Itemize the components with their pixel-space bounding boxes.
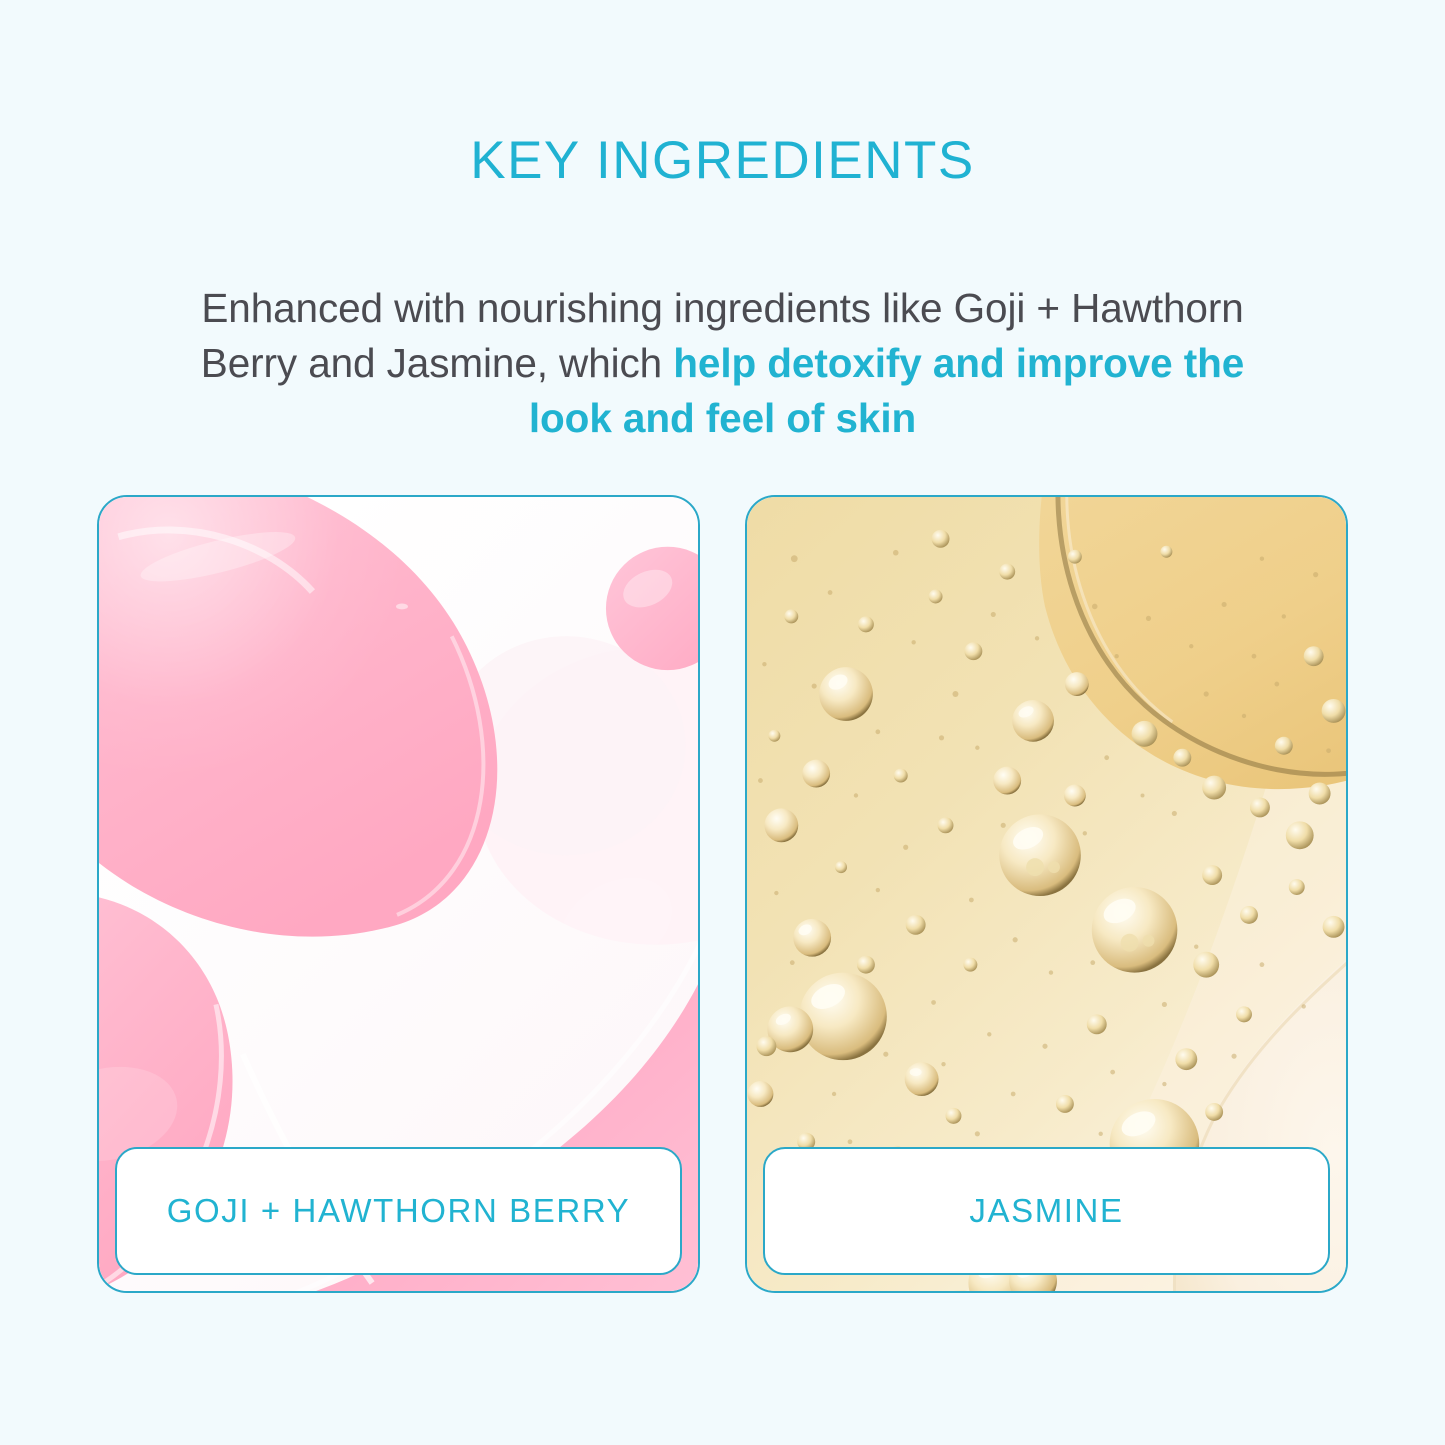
ingredient-card-grid: GOJI + HAWTHORN BERRY [97,495,1348,1293]
ingredient-card-goji-hawthorn-berry[interactable]: GOJI + HAWTHORN BERRY [97,495,700,1293]
ingredient-card-jasmine[interactable]: JASMINE [745,495,1348,1293]
card-label-goji-hawthorn-berry: GOJI + HAWTHORN BERRY [115,1147,682,1275]
card-label-text: GOJI + HAWTHORN BERRY [167,1192,631,1230]
subtitle: Enhanced with nourishing ingredients lik… [163,281,1283,447]
key-ingredients-panel: KEY INGREDIENTS Enhanced with nourishing… [0,0,1445,1445]
page-title: KEY INGREDIENTS [0,132,1445,189]
card-label-text: JASMINE [969,1192,1123,1230]
header: KEY INGREDIENTS [0,132,1445,189]
card-label-jasmine: JASMINE [763,1147,1330,1275]
